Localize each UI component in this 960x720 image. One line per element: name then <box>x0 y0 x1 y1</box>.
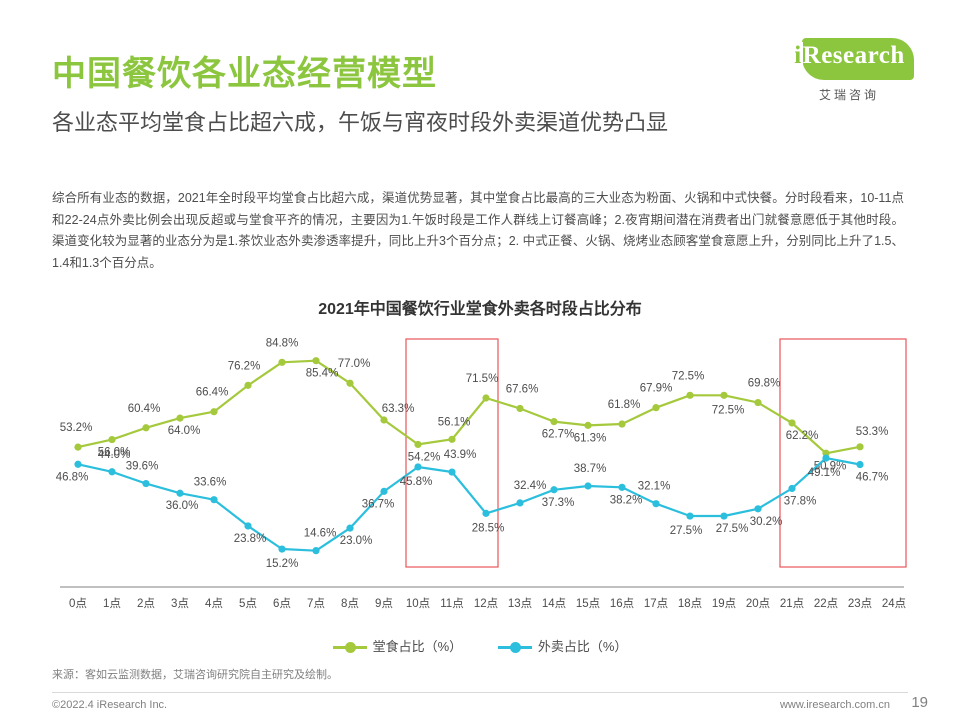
data-point <box>516 405 523 412</box>
data-label: 23.8% <box>234 533 267 545</box>
x-tick-label: 15点 <box>576 597 600 610</box>
x-tick-label: 19点 <box>712 597 736 610</box>
data-label: 28.5% <box>472 522 505 534</box>
data-label: 61.3% <box>574 432 607 444</box>
data-label: 62.2% <box>786 430 819 442</box>
data-label: 46.7% <box>856 472 889 484</box>
x-tick-label: 20点 <box>746 597 770 610</box>
legend-label-takeout: 外卖占比（%） <box>538 639 628 654</box>
data-point <box>448 436 455 443</box>
data-point <box>108 436 115 443</box>
data-label: 23.0% <box>340 535 373 547</box>
data-point <box>720 392 727 399</box>
data-point <box>550 486 557 493</box>
page-subtitle: 各业态平均堂食占比超六成，午饭与宵夜时段外卖渠道优势凸显 <box>52 108 892 138</box>
data-point <box>516 499 523 506</box>
data-label: 32.1% <box>638 481 671 493</box>
data-point <box>856 461 863 468</box>
data-point <box>244 382 251 389</box>
data-point <box>584 422 591 429</box>
data-label: 46.8% <box>56 471 89 483</box>
data-point <box>652 500 659 507</box>
x-tick-label: 22点 <box>814 597 838 610</box>
logo-i: i <box>793 42 802 69</box>
data-label: 66.4% <box>196 387 229 399</box>
data-label: 45.8% <box>400 476 433 488</box>
source-note: 来源：客如云监测数据，艾瑞咨询研究院自主研究及绘制。 <box>52 666 338 682</box>
data-point <box>788 419 795 426</box>
data-point <box>346 380 353 387</box>
x-tick-label: 11点 <box>440 597 463 610</box>
data-label: 85.4% <box>306 368 339 380</box>
logo-research: Research <box>803 42 905 69</box>
data-label: 38.2% <box>610 494 643 506</box>
data-label: 27.5% <box>670 525 703 537</box>
x-tick-label: 3点 <box>171 597 189 610</box>
data-label: 44.0% <box>98 449 131 461</box>
x-tick-label: 24点 <box>882 597 906 610</box>
x-tick-label: 9点 <box>375 597 393 610</box>
data-point <box>108 468 115 475</box>
data-point <box>584 482 591 489</box>
data-point <box>754 505 761 512</box>
data-point <box>720 512 727 519</box>
data-point <box>244 522 251 529</box>
slide: iResearch 艾瑞咨询 中国餐饮各业态经营模型 各业态平均堂食占比超六成，… <box>0 0 960 720</box>
highlight-box-1 <box>780 339 906 567</box>
page-number: 19 <box>911 694 928 711</box>
chart-title: 2021年中国餐饮行业堂食外卖各时段占比分布 <box>0 295 960 319</box>
body-paragraph: 综合所有业态的数据，2021年全时段平均堂食占比超六成，渠道优势显著，其中堂食占… <box>52 188 904 274</box>
website-url: www.iresearch.com.cn <box>780 699 890 711</box>
data-label: 38.7% <box>574 463 607 475</box>
data-point <box>380 416 387 423</box>
data-label: 30.2% <box>750 516 783 528</box>
data-point <box>482 394 489 401</box>
line-chart: 0点1点2点3点4点5点6点7点8点9点10点11点12点13点14点15点16… <box>52 325 912 620</box>
data-label: 62.7% <box>542 429 575 441</box>
data-label: 39.6% <box>126 461 159 473</box>
data-label: 49.1% <box>808 467 841 479</box>
data-point <box>618 420 625 427</box>
x-tick-label: 10点 <box>406 597 430 610</box>
data-point <box>482 510 489 517</box>
data-label: 27.5% <box>716 523 749 535</box>
data-label: 15.2% <box>266 558 299 570</box>
data-point <box>176 490 183 497</box>
data-label: 76.2% <box>228 360 261 372</box>
iresearch-logo: iResearch 艾瑞咨询 <box>784 36 914 103</box>
data-label: 77.0% <box>338 358 371 370</box>
logo-wordmark: iResearch <box>784 42 914 70</box>
x-tick-label: 12点 <box>474 597 498 610</box>
data-point <box>142 480 149 487</box>
data-label: 37.8% <box>784 495 817 507</box>
data-label: 53.2% <box>60 422 93 434</box>
data-label: 43.9% <box>444 449 477 461</box>
x-tick-label: 0点 <box>69 597 87 610</box>
data-label: 37.3% <box>542 497 575 509</box>
data-label: 33.6% <box>194 477 227 489</box>
data-label: 67.9% <box>640 383 673 395</box>
data-point <box>788 485 795 492</box>
data-label: 72.5% <box>672 370 705 382</box>
data-label: 61.8% <box>608 399 641 411</box>
data-label: 56.1% <box>438 416 471 428</box>
data-point <box>856 443 863 450</box>
data-point <box>686 392 693 399</box>
data-label: 54.2% <box>408 451 441 463</box>
footer-divider <box>52 692 908 693</box>
data-point <box>210 408 217 415</box>
data-point <box>312 547 319 554</box>
logo-subtitle: 艾瑞咨询 <box>784 86 914 103</box>
x-tick-label: 14点 <box>542 597 566 610</box>
data-point <box>278 545 285 552</box>
data-label: 63.3% <box>382 403 415 415</box>
data-point <box>414 463 421 470</box>
data-point <box>414 441 421 448</box>
data-point <box>176 415 183 422</box>
x-tick-label: 21点 <box>780 597 804 610</box>
data-point <box>346 525 353 532</box>
data-point <box>380 488 387 495</box>
data-point <box>754 399 761 406</box>
x-tick-label: 16点 <box>610 597 634 610</box>
x-tick-label: 13点 <box>508 597 532 610</box>
legend-swatch-takeout <box>498 646 532 649</box>
data-label: 84.8% <box>266 337 299 349</box>
data-point <box>74 443 81 450</box>
x-tick-label: 23点 <box>848 597 872 610</box>
data-point <box>686 512 693 519</box>
x-tick-label: 5点 <box>239 597 257 610</box>
data-point <box>278 359 285 366</box>
legend-item-dinein: 堂食占比（%） <box>333 636 463 655</box>
x-tick-label: 17点 <box>644 597 668 610</box>
data-label: 36.0% <box>166 500 199 512</box>
data-point <box>822 454 829 461</box>
data-point <box>74 461 81 468</box>
x-tick-label: 4点 <box>205 597 223 610</box>
copyright: ©2022.4 iResearch Inc. <box>52 699 167 711</box>
x-tick-label: 18点 <box>678 597 702 610</box>
data-label: 36.7% <box>362 498 395 510</box>
x-tick-label: 7点 <box>307 597 325 610</box>
x-tick-label: 8点 <box>341 597 359 610</box>
data-label: 71.5% <box>466 373 499 385</box>
chart-canvas: 0点1点2点3点4点5点6点7点8点9点10点11点12点13点14点15点16… <box>52 325 912 620</box>
data-label: 72.5% <box>712 404 745 416</box>
data-point <box>652 404 659 411</box>
data-point <box>618 484 625 491</box>
data-label: 69.8% <box>748 378 781 390</box>
data-label: 14.6% <box>304 528 337 540</box>
logo-badge: iResearch <box>784 36 914 84</box>
data-label: 64.0% <box>168 425 201 437</box>
data-label: 32.4% <box>514 480 547 492</box>
x-tick-label: 2点 <box>137 597 155 610</box>
x-tick-label: 6点 <box>273 597 291 610</box>
legend-swatch-dinein <box>333 646 367 649</box>
data-point <box>142 424 149 431</box>
data-point <box>448 468 455 475</box>
data-label: 53.3% <box>856 426 889 438</box>
data-point <box>312 357 319 364</box>
data-point <box>210 496 217 503</box>
page-title: 中国餐饮各业态经营模型 <box>52 46 437 95</box>
data-label: 67.6% <box>506 383 539 395</box>
x-tick-label: 1点 <box>103 597 121 610</box>
legend-label-dinein: 堂食占比（%） <box>373 639 463 654</box>
data-point <box>550 418 557 425</box>
legend-item-takeout: 外卖占比（%） <box>498 636 628 655</box>
data-label: 60.4% <box>128 403 161 415</box>
chart-legend: 堂食占比（%） 外卖占比（%） <box>0 636 960 655</box>
